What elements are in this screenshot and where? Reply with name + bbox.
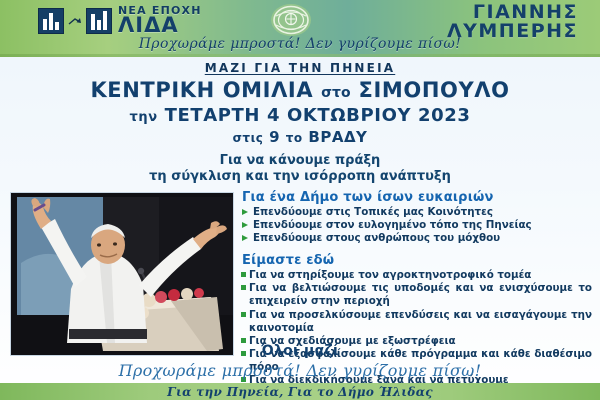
municipal-seal-icon [270, 2, 312, 40]
event-time: στις 9 το ΒΡΑΔΥ [0, 128, 600, 146]
poster-footer: Όλοι μαζί Προχωράμε μπροστά! Δεν γυρίζου… [0, 343, 600, 400]
event-title-place: ΣΙΜΟΠΟΥΛΟ [359, 78, 510, 102]
event-time-value: 9 [269, 128, 280, 146]
list-item: Επενδύουμε στους ανθρώπους του μόχθου [240, 232, 592, 245]
event-title-connector: στο [321, 85, 350, 101]
speaker-photo [10, 192, 234, 356]
section-heading-2: Είμαστε εδώ [242, 253, 592, 268]
bullet-list-1: Επενδύουμε στις Τοπικές μας Κοινότητες Ε… [240, 206, 592, 246]
footer-slogan: Προχωράμε μπροστά! Δεν γυρίζουμε πίσω! [0, 361, 600, 380]
title-block: ΜΑΖΙ ΓΙΑ ΤΗΝ ΠΗΝΕΙΑ ΚΕΝΤΡΙΚΗ ΟΜΙΛΙΑ στο … [0, 57, 600, 186]
content-columns: Για ένα Δήμο των ίσων ευκαιριών Επενδύου… [0, 192, 600, 360]
campaign-poster: ΝΕΑ ΕΠΟΧΗ ΛΙΔΑ ΓΙΑΝΝΗΣ ΛΥΜΠΕΡΗΣ Προχωράμ… [0, 0, 600, 400]
event-time-prefix: στις [233, 131, 264, 145]
event-date-main: ΤΕΤΑΡΤΗ 4 ΟΚΤΩΒΡΙΟΥ 2023 [165, 105, 471, 126]
event-time-suffix: ΒΡΑΔΥ [308, 128, 367, 146]
arrow-right-icon [68, 13, 82, 29]
list-item: Επενδύουμε στις Τοπικές μας Κοινότητες [240, 206, 592, 219]
footer-all-together: Όλοι μαζί [0, 343, 600, 359]
list-item: Για να προσελκύσουμε επενδύσεις και να ε… [240, 309, 592, 335]
event-title: ΚΕΝΤΡΙΚΗ ΟΜΙΛΙΑ στο ΣΙΜΟΠΟΥΛΟ [0, 78, 600, 102]
list-item: Για να βελτιώσουμε τις υποδομές και να ε… [240, 282, 592, 308]
bar-chart-icon [38, 8, 64, 34]
event-time-mid: το [286, 131, 303, 145]
party-logo: ΝΕΑ ΕΠΟΧΗ ΛΙΔΑ [38, 5, 202, 36]
bar-chart-icon-2 [86, 8, 112, 34]
event-date-prefix: την [129, 110, 157, 125]
party-brand-text: ΝΕΑ ΕΠΟΧΗ ΛΙΔΑ [118, 5, 202, 36]
footer-bar-text: Για την Πηνεία, Για το Δήμο Ήλιδας [167, 385, 433, 399]
event-title-main: ΚΕΝΤΡΙΚΗ ΟΜΙΛΙΑ [90, 78, 313, 102]
list-item: Επενδύουμε στον ευλογημένο τόπο της Πηνε… [240, 219, 592, 232]
event-date: την ΤΕΤΑΡΤΗ 4 ΟΚΤΩΒΡΙΟΥ 2023 [0, 105, 600, 126]
event-subtitle-line1: Για να κάνουμε πράξη [0, 153, 600, 169]
event-subtitle-line2: τη σύγκλιση και την ισόρροπη ανάπτυξη [0, 169, 600, 185]
header-slogan: Προχωράμε μπροστά! Δεν γυρίζουμε πίσω! [0, 36, 600, 52]
section-heading-1: Για ένα Δήμο των ίσων ευκαιριών [242, 190, 592, 205]
footer-green-bar: Για την Πηνεία, Για το Δήμο Ήλιδας [0, 383, 600, 400]
poster-header: ΝΕΑ ΕΠΟΧΗ ΛΙΔΑ ΓΙΑΝΝΗΣ ΛΥΜΠΕΡΗΣ Προχωράμ… [0, 0, 600, 57]
list-item: Για να στηρίξουμε τον αγροκτηνοτροφικό τ… [240, 269, 592, 282]
kicker-text: ΜΑΖΙ ΓΙΑ ΤΗΝ ΠΗΝΕΙΑ [0, 61, 600, 75]
party-name: ΛΙΔΑ [118, 15, 202, 36]
event-subtitle: Για να κάνουμε πράξη τη σύγκλιση και την… [0, 153, 600, 186]
